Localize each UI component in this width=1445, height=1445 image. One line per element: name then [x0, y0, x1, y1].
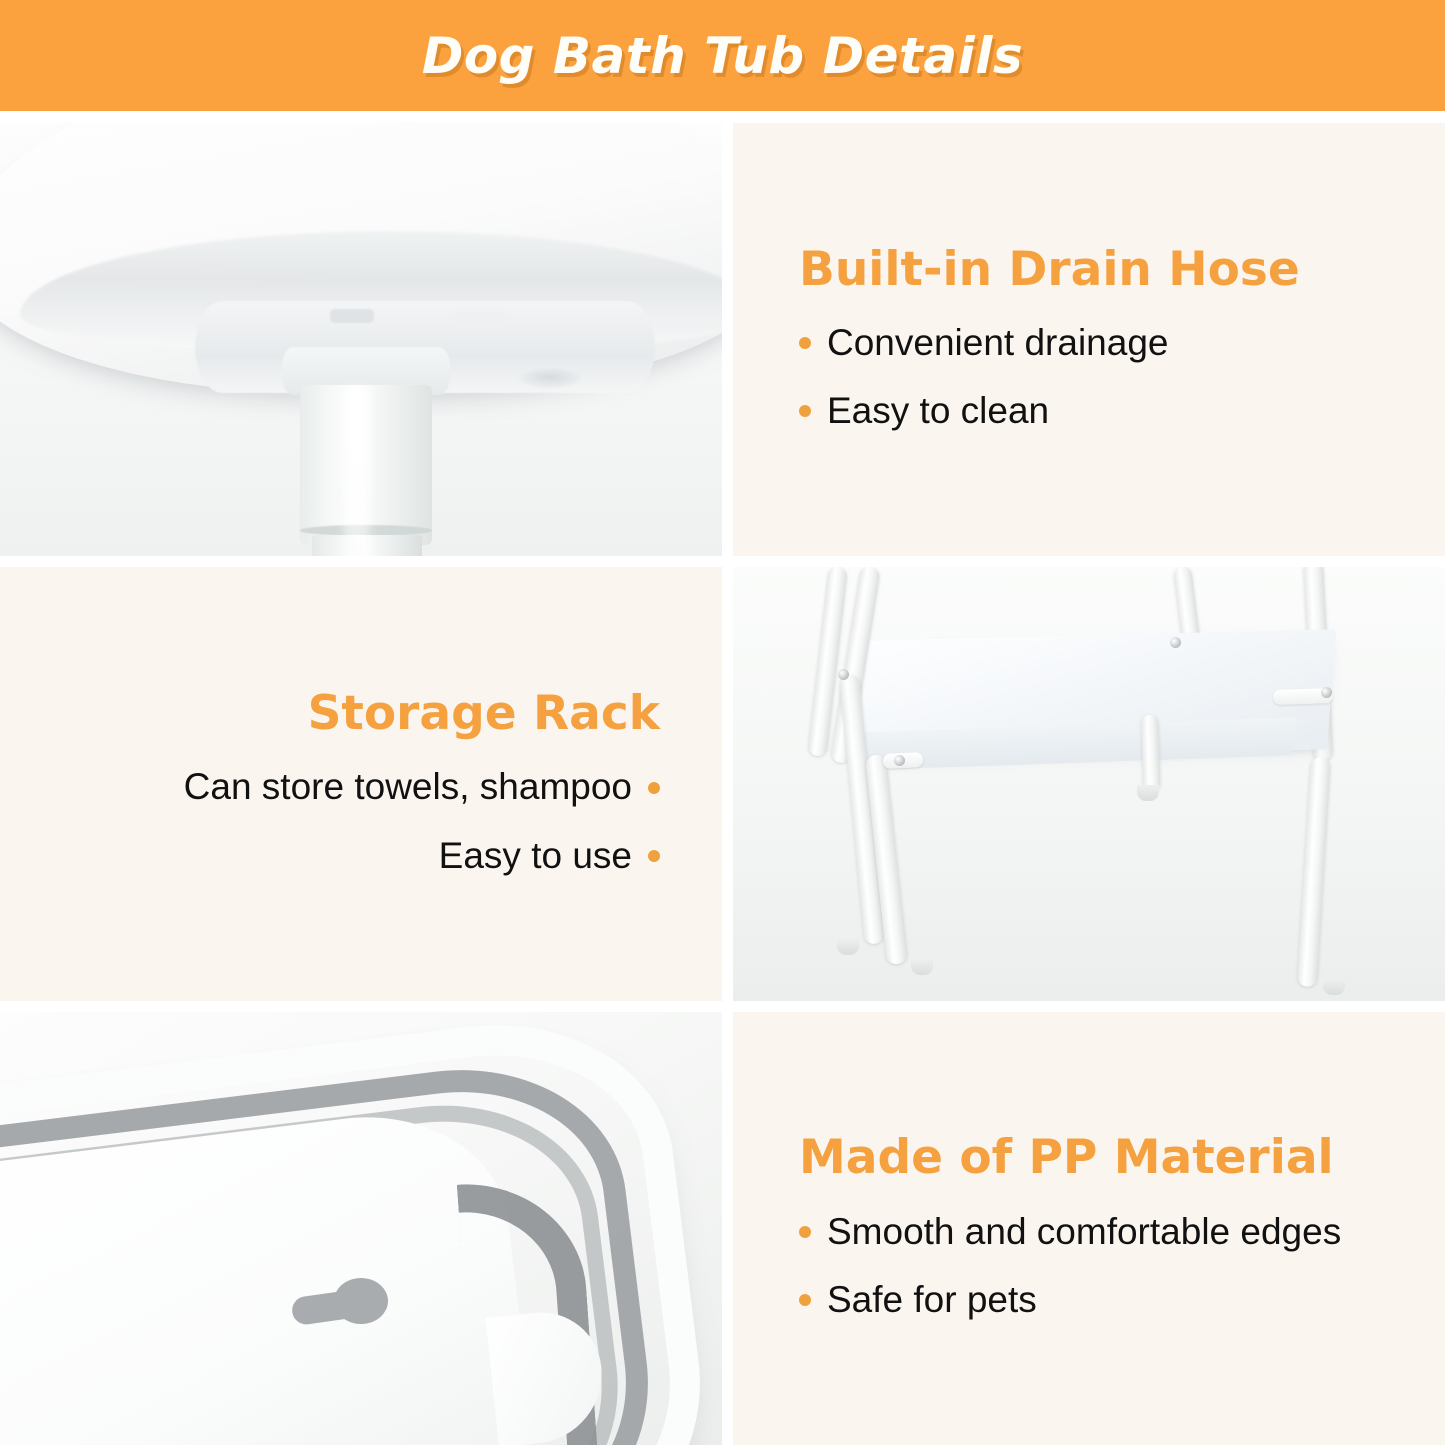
rack-foot: [911, 959, 933, 975]
product-details-infographic: Dog Bath Tub Details: [0, 0, 1445, 1445]
feature-text-built-in-drain-hose: Built-in Drain Hose Convenient drainage …: [733, 123, 1445, 556]
storage-rack-photo: [733, 567, 1445, 1000]
rack-foot: [837, 939, 859, 955]
feature-grid: Built-in Drain Hose Convenient drainage …: [0, 111, 1445, 1445]
feature-bullet-list: Convenient drainage Easy to clean: [799, 320, 1389, 435]
list-item: Safe for pets: [799, 1277, 1389, 1323]
feature-text-made-of-pp-material: Made of PP Material Smooth and comfortab…: [733, 1012, 1445, 1445]
list-item: Can store towels, shampoo: [56, 764, 660, 810]
feature-text-block: Built-in Drain Hose Convenient drainage …: [733, 245, 1445, 435]
drain-hose-highlight: [344, 389, 370, 556]
rack-leg: [1297, 757, 1331, 988]
bullet-dot-icon: [648, 850, 660, 862]
bullet-label: Safe for pets: [827, 1277, 1037, 1323]
drain-keyhole-circle-icon: [334, 1278, 388, 1324]
drain-plate-ring: [518, 366, 582, 388]
feature-bullet-list: Can store towels, shampoo Easy to use: [56, 764, 660, 879]
bullet-dot-icon: [648, 782, 660, 794]
drain-hose-photo: [0, 123, 722, 556]
bullet-label: Smooth and comfortable edges: [827, 1209, 1341, 1255]
bullet-label: Easy to clean: [827, 388, 1049, 434]
list-item: Easy to use: [56, 833, 660, 879]
feature-heading-built-in-drain-hose: Built-in Drain Hose: [799, 245, 1389, 294]
feature-photo-storage-rack: [733, 567, 1445, 1000]
feature-text-block: Storage Rack Can store towels, shampoo E…: [0, 689, 722, 879]
bullet-label: Can store towels, shampoo: [184, 764, 632, 810]
rack-leg: [1141, 715, 1161, 792]
rack-foot: [1137, 785, 1159, 801]
feature-heading-storage-rack: Storage Rack: [56, 689, 660, 738]
feature-bullet-list: Smooth and comfortable edges Safe for pe…: [799, 1209, 1389, 1324]
bullet-dot-icon: [799, 1226, 811, 1238]
list-item: Smooth and comfortable edges: [799, 1209, 1389, 1255]
bullet-dot-icon: [799, 405, 811, 417]
feature-heading-made-of-pp-material: Made of PP Material: [799, 1133, 1389, 1182]
feature-text-block: Made of PP Material Smooth and comfortab…: [733, 1133, 1445, 1323]
rack-foot: [1323, 979, 1345, 995]
collapsible-tub-photo: [0, 1012, 722, 1445]
drain-plate-slot: [330, 309, 374, 323]
tub-inner-basin: [0, 1100, 542, 1445]
feature-photo-made-of-pp-material: [0, 1012, 722, 1445]
feature-photo-built-in-drain-hose: [0, 123, 722, 556]
bullet-dot-icon: [799, 1294, 811, 1306]
drain-plate-slot: [455, 311, 505, 326]
header-banner: Dog Bath Tub Details: [0, 0, 1445, 111]
page-title: Dog Bath Tub Details: [422, 27, 1023, 85]
bullet-label: Convenient drainage: [827, 320, 1168, 366]
list-item: Easy to clean: [799, 388, 1389, 434]
bullet-dot-icon: [799, 337, 811, 349]
feature-text-storage-rack: Storage Rack Can store towels, shampoo E…: [0, 567, 722, 1000]
list-item: Convenient drainage: [799, 320, 1389, 366]
bullet-label: Easy to use: [439, 833, 632, 879]
